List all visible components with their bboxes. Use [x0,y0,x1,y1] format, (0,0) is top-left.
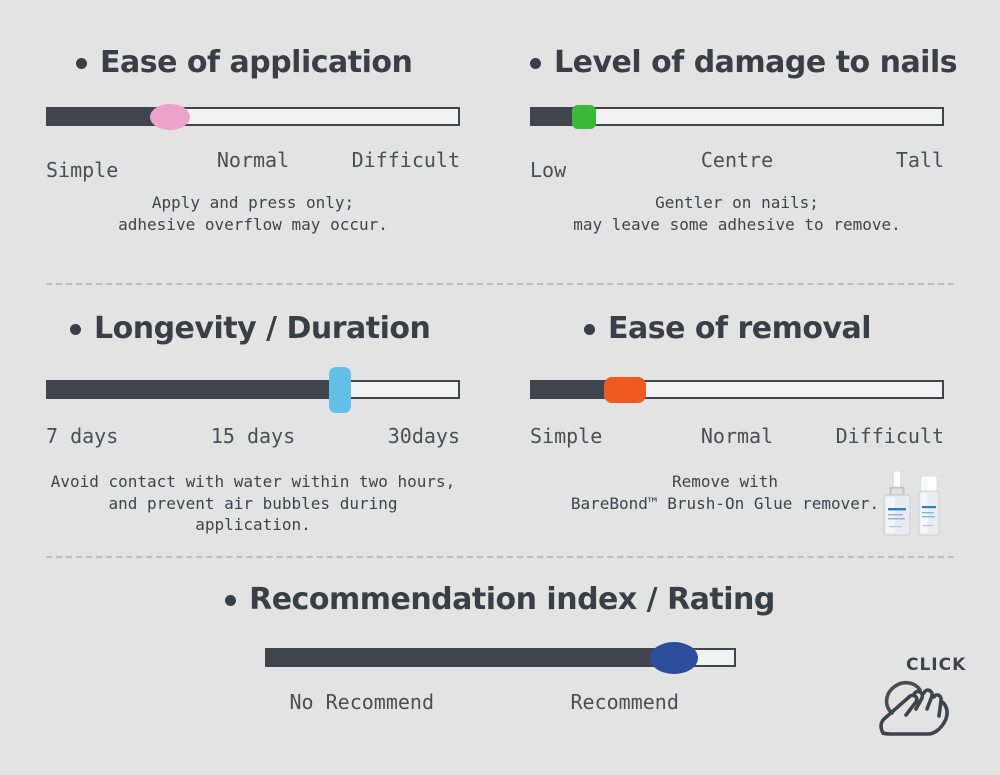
panel-level-of-damage: Level of damage to nails Low Centre Tall… [530,48,944,235]
bullet-icon [530,58,541,69]
scale-label-middle: Normal [217,148,289,172]
scale-label-left: Simple [530,424,602,448]
note-longevity: Avoid contact with water within two hour… [46,471,460,536]
slider-fill [46,380,340,399]
section-divider-2 [46,556,954,558]
slider-thumb[interactable] [150,104,190,130]
scale-label-left: Low [530,158,566,182]
panel-ease-of-application: Ease of application Simple Normal Diffic… [46,48,460,235]
scale-recommendation-index: No Recommend Recommend [265,690,736,720]
panel-title-recommendation-index: Recommendation index / Rating [205,585,795,615]
scale-label-right: 30days [388,424,460,448]
panel-title-ease-of-application: Ease of application [76,48,460,78]
scale-label-right: Difficult [352,148,460,172]
slider-longevity[interactable] [46,380,460,400]
scale-ease-of-removal: Simple Normal Difficult [530,424,944,454]
scale-label-middle: Centre [701,148,773,172]
panel-recommendation-index: Recommendation index / Rating No Recomme… [205,585,795,720]
note-ease-of-application: Apply and press only; adhesive overflow … [46,192,460,235]
note-ease-of-removal: Remove with BareBond™ Brush-On Glue remo… [530,471,920,514]
panel-title-longevity: Longevity / Duration [70,314,460,344]
scale-label-right: Recommend [571,690,679,714]
slider-recommendation-index[interactable] [265,648,736,668]
scale-label-right: Tall [896,148,944,172]
panel-title-text: Level of damage to nails [554,48,957,78]
section-divider-1 [46,283,954,285]
infographic-sheet: Ease of application Simple Normal Diffic… [0,0,1000,775]
hand-click-icon [862,673,966,739]
panel-longevity: Longevity / Duration 7 days 15 days 30da… [46,314,460,536]
glue-remover-bottles-icon [876,470,952,542]
scale-label-left: No Recommend [290,690,435,714]
slider-ease-of-application[interactable] [46,107,460,127]
bullet-icon [70,324,81,335]
scale-label-right: Difficult [836,424,944,448]
click-label: CLICK [906,655,966,675]
scale-label-left: 7 days [46,424,118,448]
slider-thumb[interactable] [650,642,698,674]
bullet-icon [225,595,236,606]
panel-title-text: Ease of application [100,48,412,78]
panel-title-text: Longevity / Duration [94,314,430,344]
scale-level-of-damage: Low Centre Tall [530,148,944,178]
scale-label-middle: Normal [701,424,773,448]
note-level-of-damage: Gentler on nails; may leave some adhesiv… [530,192,944,235]
slider-fill [265,648,675,667]
slider-thumb[interactable] [572,105,596,129]
scale-label-middle: 15 days [211,424,295,448]
panel-title-text: Ease of removal [608,314,871,344]
slider-thumb[interactable] [329,367,351,413]
click-badge[interactable]: CLICK [862,655,972,741]
scale-longevity: 7 days 15 days 30days [46,424,460,454]
panel-title-text: Recommendation index / Rating [249,585,775,615]
scale-ease-of-application: Simple Normal Difficult [46,148,460,178]
bullet-icon [584,324,595,335]
panel-title-level-of-damage: Level of damage to nails [530,48,944,78]
slider-ease-of-removal[interactable] [530,380,944,400]
slider-thumb[interactable] [604,377,646,403]
bullet-icon [76,58,87,69]
panel-title-ease-of-removal: Ease of removal [584,314,944,344]
scale-label-left: Simple [46,158,118,182]
slider-level-of-damage[interactable] [530,107,944,127]
